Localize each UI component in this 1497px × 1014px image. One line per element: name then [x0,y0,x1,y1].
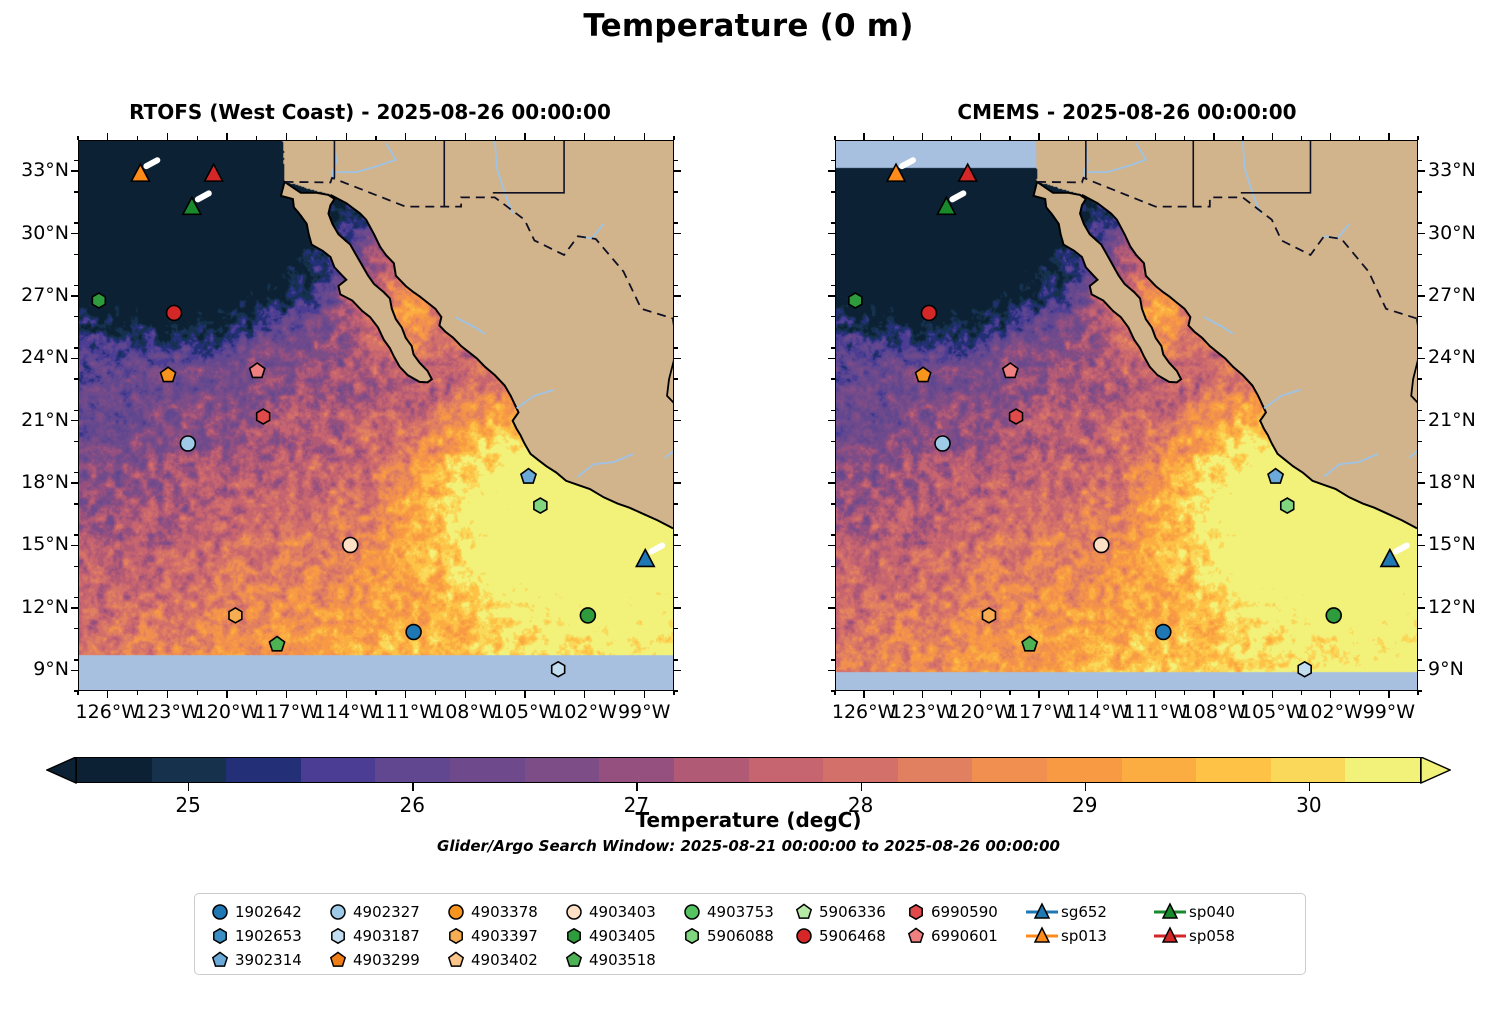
y-tick [828,670,835,671]
x-minor-tick [554,136,555,140]
y-minor-tick [674,566,678,567]
legend-label: 1902653 [235,927,302,945]
y-minor-tick [1418,503,1422,504]
legend-marker-pentagon-icon [903,924,929,948]
x-tick [1213,691,1214,698]
y-tick [674,482,681,483]
legend-item[interactable]: sp040 [1153,900,1273,924]
x-tick [1155,133,1156,140]
y-minor-tick [74,378,78,379]
legend-column: 59063365906468 [791,900,903,948]
y-minor-tick [1418,285,1422,286]
y-tick-label: 27°N [1428,284,1476,306]
legend-column: 190264219026533902314 [207,900,325,972]
map-overlay-cmems [836,141,1417,690]
y-tick [828,233,835,234]
y-tick [828,295,835,296]
x-tick [346,133,347,140]
legend-column: 490337849033974903402 [443,900,561,972]
colorbar: 252627282930 [46,757,1451,783]
legend-label: 4902327 [353,903,420,921]
y-tick-label: 21°N [1428,409,1476,431]
legend-item[interactable]: 4903402 [443,948,561,972]
y-tick [71,358,78,359]
legend-marker-triangle-line-icon [1153,900,1187,924]
y-minor-tick [1418,222,1422,223]
y-minor-tick [831,503,835,504]
y-minor-tick [74,472,78,473]
y-minor-tick [674,628,678,629]
x-tick [1388,691,1389,698]
legend-marker-triangle-line-icon [1025,900,1059,924]
y-minor-tick [1418,659,1422,660]
y-tick [674,670,681,671]
y-minor-tick [831,472,835,473]
y-tick [828,607,835,608]
y-tick [1418,607,1425,608]
y-tick-label: 18°N [1428,471,1476,493]
y-tick [71,545,78,546]
legend-column: sp040sp058 [1153,900,1273,948]
y-minor-tick [1418,597,1422,598]
y-minor-tick [674,597,678,598]
legend-label: 1902642 [235,903,302,921]
y-minor-tick [831,254,835,255]
legend-label: 4903397 [471,927,538,945]
x-tick [226,133,227,140]
legend-item[interactable]: 3902314 [207,948,325,972]
x-minor-tick [834,691,835,695]
y-minor-tick [674,534,678,535]
y-tick [828,170,835,171]
colorbar-caption: Glider/Argo Search Window: 2025-08-21 00… [0,837,1497,855]
legend-item[interactable]: 5906088 [679,924,791,948]
x-minor-tick [951,691,952,695]
y-minor-tick [1418,160,1422,161]
y-minor-tick [831,628,835,629]
page-title: Temperature (0 m) [0,8,1497,44]
y-minor-tick [674,160,678,161]
x-tick [226,691,227,698]
x-tick [524,691,525,698]
legend-label: sp013 [1061,927,1107,945]
y-tick-label: 9°N [0,658,69,680]
y-tick [71,607,78,608]
x-minor-tick [375,691,376,695]
legend-marker-pentagon-icon [325,948,351,972]
y-minor-tick [674,191,678,192]
legend-label: 4903403 [589,903,656,921]
x-minor-tick [1359,691,1360,695]
x-tick [863,691,864,698]
x-tick [1097,133,1098,140]
y-tick [1418,670,1425,671]
legend-marker-circle-icon [207,900,233,924]
y-minor-tick [674,347,678,348]
legend-marker-triangle-line-icon [1153,924,1187,948]
y-minor-tick [831,191,835,192]
y-minor-tick [1418,191,1422,192]
y-tick-label: 27°N [0,284,69,306]
y-tick-label: 24°N [1428,346,1476,368]
y-tick [71,295,78,296]
legend-item[interactable]: 4903187 [325,924,443,948]
x-minor-tick [1417,136,1418,140]
x-tick [405,133,406,140]
x-tick [922,133,923,140]
x-minor-tick [137,136,138,140]
legend-label: sp058 [1189,927,1235,945]
legend-label: 5906468 [819,927,886,945]
x-tick-label: 99°W [604,701,684,723]
y-minor-tick [74,441,78,442]
y-tick [1418,545,1425,546]
y-minor-tick [831,285,835,286]
y-tick-label: 21°N [0,409,69,431]
y-tick [1418,482,1425,483]
legend-column: 49037535906088 [679,900,791,948]
y-tick [828,358,835,359]
x-minor-tick [614,136,615,140]
legend-item[interactable]: 5906336 [791,900,903,924]
x-tick [1097,691,1098,698]
x-minor-tick [1242,691,1243,695]
y-tick-label: 12°N [0,596,69,618]
legend-label: 4903402 [471,951,538,969]
legend-marker-circle-icon [443,900,469,924]
y-minor-tick [1418,410,1422,411]
x-minor-tick [834,136,835,140]
y-tick [674,420,681,421]
legend-marker-circle-icon [791,924,817,948]
y-minor-tick [74,347,78,348]
x-minor-tick [1417,691,1418,695]
colorbar-tick [1309,783,1310,791]
x-tick-label: 99°W [1349,701,1429,723]
x-minor-tick [1126,136,1127,140]
y-minor-tick [674,503,678,504]
legend-marker-hexagon-icon [561,924,587,948]
legend-item[interactable]: 4903403 [561,900,679,924]
x-minor-tick [1068,136,1069,140]
y-minor-tick [1418,534,1422,535]
y-minor-tick [831,378,835,379]
colorbar-tick [188,783,189,791]
legend-marker-pentagon-icon [443,948,469,972]
legend-column: 490340349034054903518 [561,900,679,972]
map-cmems[interactable] [835,140,1418,691]
y-minor-tick [74,597,78,598]
x-tick [1330,691,1331,698]
legend-column: sg652sp013 [1025,900,1153,948]
legend-item[interactable]: sp013 [1025,924,1153,948]
x-tick [1272,133,1273,140]
x-minor-tick [673,136,674,140]
y-tick [71,170,78,171]
y-minor-tick [831,441,835,442]
y-minor-tick [1418,566,1422,567]
x-tick [644,133,645,140]
y-minor-tick [74,410,78,411]
y-tick [1418,295,1425,296]
legend-item[interactable]: 4902327 [325,900,443,924]
legend-item[interactable]: 1902653 [207,924,325,948]
colorbar-tick [1085,783,1086,791]
y-tick-label: 30°N [1428,222,1476,244]
x-minor-tick [1184,136,1185,140]
legend-marker-hexagon-icon [325,924,351,948]
y-minor-tick [1418,628,1422,629]
x-tick [980,133,981,140]
y-minor-tick [74,566,78,567]
panel-title-rtofs: RTOFS (West Coast) - 2025-08-26 00:00:00 [40,100,700,124]
y-minor-tick [74,191,78,192]
legend-label: 4903378 [471,903,538,921]
y-minor-tick [1418,254,1422,255]
y-tick-label: 15°N [1428,533,1476,555]
y-minor-tick [1418,472,1422,473]
x-tick [1272,691,1273,698]
y-minor-tick [1418,378,1422,379]
legend-item[interactable]: 6990590 [903,900,1025,924]
x-minor-tick [614,691,615,695]
x-minor-tick [197,691,198,695]
x-minor-tick [673,691,674,695]
y-minor-tick [831,316,835,317]
x-minor-tick [197,136,198,140]
y-minor-tick [674,378,678,379]
legend-marker-circle-icon [561,900,587,924]
legend-marker-circle-icon [325,900,351,924]
x-minor-tick [1301,691,1302,695]
legend-label: 4903187 [353,927,420,945]
legend-label: 4903299 [353,951,420,969]
x-tick [1213,133,1214,140]
legend-item[interactable]: 4903397 [443,924,561,948]
x-minor-tick [495,691,496,695]
y-minor-tick [674,441,678,442]
y-minor-tick [831,659,835,660]
x-tick [1038,133,1039,140]
y-tick [71,670,78,671]
x-minor-tick [137,691,138,695]
y-tick-label: 18°N [0,471,69,493]
y-tick [674,295,681,296]
y-tick-label: 12°N [1428,596,1476,618]
y-tick [1418,233,1425,234]
y-minor-tick [1418,316,1422,317]
y-tick-label: 24°N [0,346,69,368]
x-minor-tick [554,691,555,695]
x-tick [465,691,466,698]
legend-item[interactable]: 6990601 [903,924,1025,948]
y-minor-tick [74,254,78,255]
y-tick-label: 9°N [1428,658,1464,680]
y-minor-tick [831,534,835,535]
x-tick [584,133,585,140]
x-tick [980,691,981,698]
legend-marker-triangle-line-icon [1025,924,1059,948]
y-minor-tick [74,659,78,660]
legend-marker-pentagon-icon [561,948,587,972]
x-tick [1038,691,1039,698]
x-minor-tick [893,691,894,695]
y-minor-tick [74,628,78,629]
x-minor-tick [1126,691,1127,695]
x-minor-tick [316,136,317,140]
y-tick-label: 30°N [0,222,69,244]
legend-item[interactable]: sp058 [1153,924,1273,948]
legend-marker-hexagon-icon [443,924,469,948]
y-tick [674,170,681,171]
x-tick [863,133,864,140]
legend-marker-hexagon-icon [679,924,705,948]
x-minor-tick [435,691,436,695]
x-minor-tick [435,136,436,140]
x-minor-tick [1184,691,1185,695]
legend-label: 6990601 [931,927,998,945]
x-tick [107,691,108,698]
legend-marker-pentagon-icon [207,948,233,972]
x-tick [1330,133,1331,140]
y-tick [674,545,681,546]
legend-label: 5906088 [707,927,774,945]
y-tick-label: 33°N [1428,159,1476,181]
x-minor-tick [1068,691,1069,695]
colorbar-tick [861,783,862,791]
y-minor-tick [674,254,678,255]
x-minor-tick [256,691,257,695]
x-minor-tick [1242,136,1243,140]
legend-label: 3902314 [235,951,302,969]
legend-marker-hexagon-icon [207,924,233,948]
map-overlay-rtofs [79,141,673,690]
legend-column: 69905906990601 [903,900,1025,948]
x-minor-tick [77,136,78,140]
y-minor-tick [831,566,835,567]
y-minor-tick [1418,347,1422,348]
x-tick [346,691,347,698]
y-minor-tick [74,534,78,535]
panel-title-cmems: CMEMS - 2025-08-26 00:00:00 [797,100,1457,124]
y-tick [71,233,78,234]
legend-label: 6990590 [931,903,998,921]
y-tick [828,545,835,546]
legend-item[interactable]: 4903518 [561,948,679,972]
y-tick [674,233,681,234]
legend-label: 5906336 [819,903,886,921]
x-tick [524,133,525,140]
x-minor-tick [375,136,376,140]
x-tick [107,133,108,140]
legend-label: sp040 [1189,903,1235,921]
y-minor-tick [1418,441,1422,442]
y-minor-tick [74,285,78,286]
y-minor-tick [674,316,678,317]
x-minor-tick [1009,691,1010,695]
legend-item[interactable]: 4903405 [561,924,679,948]
y-minor-tick [831,347,835,348]
y-tick [1418,420,1425,421]
x-tick [286,133,287,140]
x-tick [167,691,168,698]
y-minor-tick [674,222,678,223]
x-tick [1155,691,1156,698]
y-minor-tick [74,160,78,161]
x-minor-tick [77,691,78,695]
x-tick [465,133,466,140]
y-minor-tick [831,222,835,223]
x-minor-tick [893,136,894,140]
y-minor-tick [674,285,678,286]
legend-item[interactable]: 4903299 [325,948,443,972]
y-tick-label: 33°N [0,159,69,181]
y-tick [1418,358,1425,359]
y-minor-tick [831,160,835,161]
y-tick [674,358,681,359]
legend-label: sg652 [1061,903,1107,921]
legend-column: 490232749031874903299 [325,900,443,972]
y-tick [71,482,78,483]
x-tick [1388,133,1389,140]
y-minor-tick [831,597,835,598]
legend-marker-pentagon-icon [791,900,817,924]
x-tick [405,691,406,698]
y-tick [828,482,835,483]
x-minor-tick [1009,136,1010,140]
x-minor-tick [1359,136,1360,140]
legend-label: 4903405 [589,927,656,945]
y-minor-tick [674,472,678,473]
x-tick [922,691,923,698]
y-minor-tick [74,316,78,317]
x-tick [286,691,287,698]
x-tick [584,691,585,698]
x-minor-tick [1301,136,1302,140]
y-minor-tick [74,503,78,504]
legend-item[interactable]: 4903753 [679,900,791,924]
y-tick-label: 15°N [0,533,69,555]
x-tick [644,691,645,698]
colorbar-tick [636,783,637,791]
legend-item[interactable]: 5906468 [791,924,903,948]
legend-label: 4903753 [707,903,774,921]
legend-item[interactable]: 4903378 [443,900,561,924]
legend-marker-circle-icon [679,900,705,924]
x-minor-tick [316,691,317,695]
x-minor-tick [951,136,952,140]
y-minor-tick [831,410,835,411]
legend-item[interactable]: sg652 [1025,900,1153,924]
x-minor-tick [256,136,257,140]
y-minor-tick [674,659,678,660]
map-rtofs[interactable] [78,140,674,691]
y-tick [674,607,681,608]
y-tick [71,420,78,421]
legend-item[interactable]: 1902642 [207,900,325,924]
colorbar-tick [412,783,413,791]
y-minor-tick [674,410,678,411]
legend-label: 4903518 [589,951,656,969]
legend-marker-hexagon-icon [903,900,929,924]
x-minor-tick [495,136,496,140]
y-tick [828,420,835,421]
y-tick [1418,170,1425,171]
legend[interactable]: 1902642190265339023144902327490318749032… [194,893,1306,975]
x-tick [167,133,168,140]
y-minor-tick [74,222,78,223]
colorbar-label: Temperature (degC) [0,808,1497,832]
